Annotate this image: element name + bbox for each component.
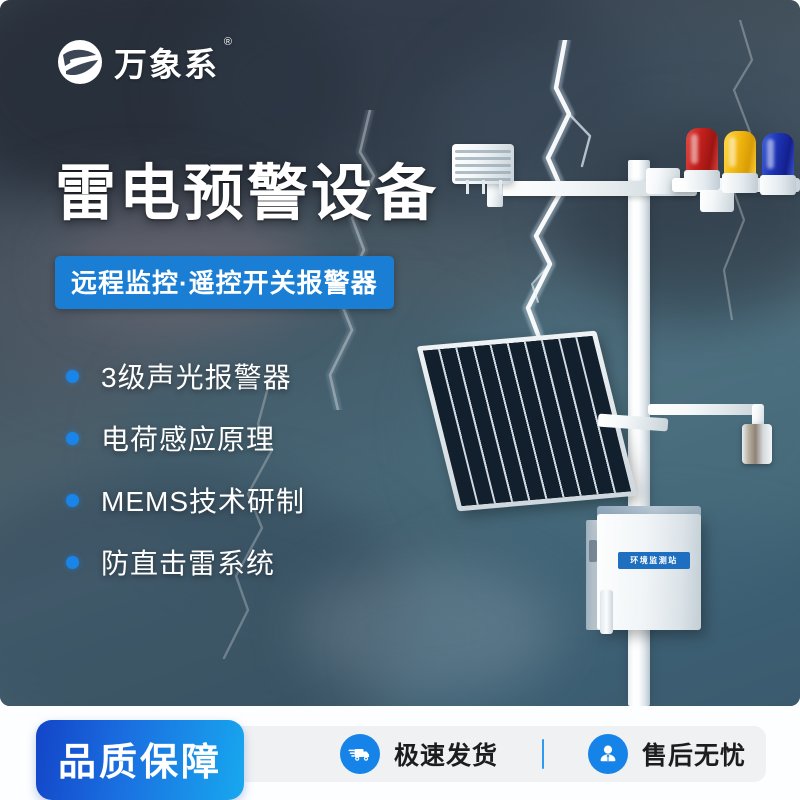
feature-item: 电荷感应原理	[66, 407, 305, 469]
page-title: 雷电预警设备	[55, 143, 439, 232]
feature-label: 电荷感应原理	[101, 418, 275, 458]
bullet-dot-icon	[66, 432, 79, 445]
service-label: 极速发货	[394, 736, 498, 772]
quality-badge: 品质保障	[36, 720, 244, 800]
feature-list: 3级声光报警器 电荷感应原理 MEMS技术研制 防直击雷系统	[66, 345, 305, 593]
bullet-dot-icon	[66, 370, 79, 383]
customer-support-icon	[588, 734, 628, 774]
brand-logo: 万象系 ®	[56, 38, 219, 86]
hero-subtitle: 远程监控·遥控开关报警器	[55, 256, 394, 309]
delivery-truck-icon	[340, 734, 380, 774]
service-label: 售后无忧	[642, 736, 746, 772]
feature-label: 防直击雷系统	[101, 542, 275, 582]
sensor-support-arm	[648, 404, 764, 415]
control-box-conduit	[600, 590, 613, 634]
service-bar: 极速发货 售后无忧	[190, 726, 766, 782]
blue-alarm-beacon	[760, 133, 796, 195]
feature-label: 3级声光报警器	[101, 356, 292, 396]
service-divider	[542, 739, 544, 769]
brand-circle-icon	[56, 38, 104, 86]
yellow-alarm-beacon	[722, 131, 758, 193]
feature-label: MEMS技术研制	[101, 480, 305, 520]
service-item-aftersales: 售后无忧	[588, 734, 746, 774]
trust-banner: 极速发货 售后无忧 品质保障	[0, 706, 800, 800]
hero-image: 环境监测站 万象系 ® 雷电预警设备 远程监控·遥控开关报警器 3	[0, 0, 800, 706]
beacon-junction-hub	[700, 190, 734, 212]
product-marketing-page: 环境监测站 万象系 ® 雷电预警设备 远程监控·遥控开关报警器 3	[0, 0, 800, 800]
feature-item: 防直击雷系统	[66, 531, 305, 593]
feature-item: MEMS技术研制	[66, 469, 305, 531]
red-alarm-beacon	[684, 128, 720, 190]
feature-item: 3级声光报警器	[66, 345, 305, 407]
trademark-symbol: ®	[224, 36, 234, 48]
radiation-shield-sensor	[452, 144, 514, 184]
bullet-dot-icon	[66, 494, 79, 507]
bullet-dot-icon	[66, 556, 79, 569]
electric-field-sensor	[742, 424, 772, 464]
solar-panel-assembly	[430, 330, 640, 530]
control-box-vent	[589, 540, 597, 562]
service-item-shipping: 极速发货	[340, 734, 498, 774]
brand-name-text: 万象系	[114, 46, 219, 83]
brand-name: 万象系 ®	[114, 38, 219, 86]
control-box-label: 环境监测站	[618, 552, 690, 569]
radiation-shield-legs	[464, 180, 504, 194]
